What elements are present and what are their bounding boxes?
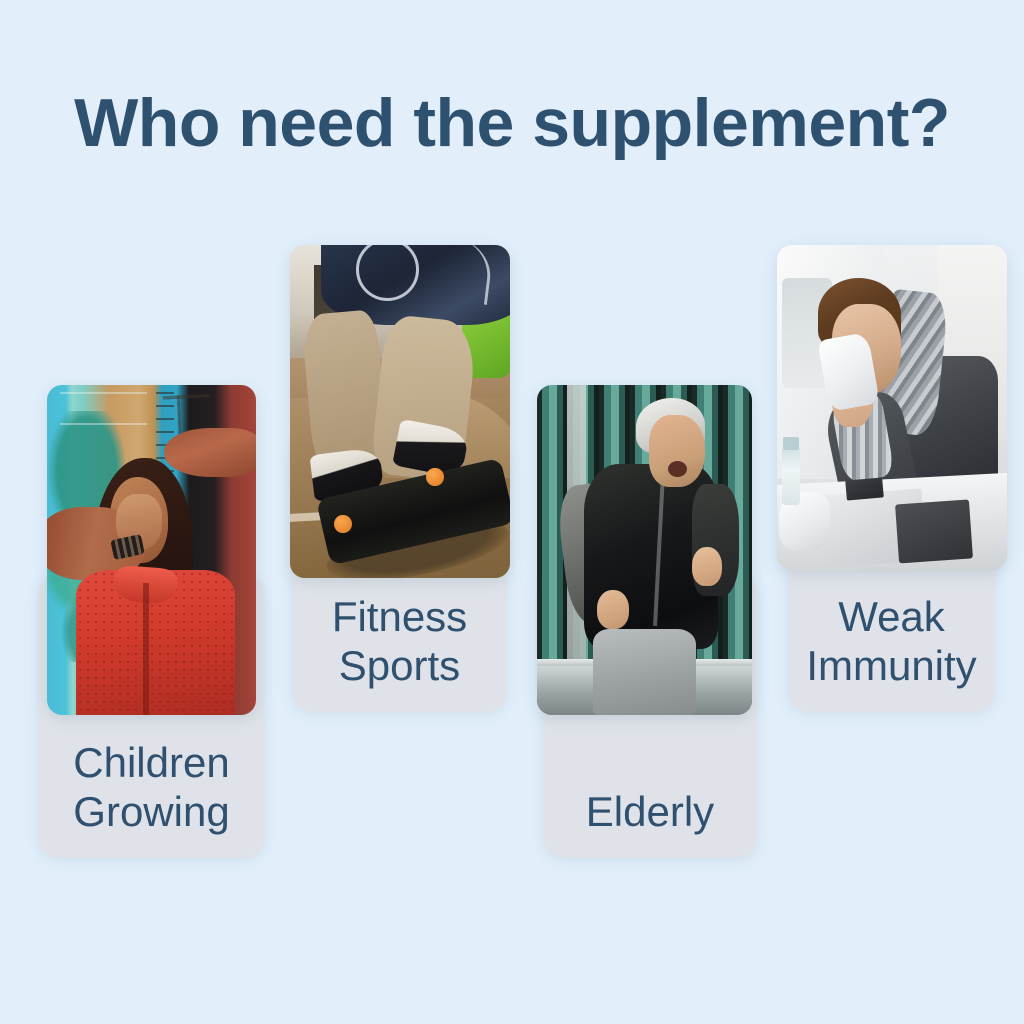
skateboard-wheel-rear xyxy=(334,515,352,533)
medicine-bottle-cap xyxy=(783,437,799,450)
laptop-screen xyxy=(895,499,972,562)
card-label-elderly: Elderly xyxy=(543,787,757,858)
shirt-button-placket xyxy=(143,583,149,715)
card-image-children xyxy=(47,385,256,715)
medicine-bottle xyxy=(782,447,800,506)
poster-root: Who need the supplement? Children Growin… xyxy=(0,0,1024,1024)
jogger-left-fist xyxy=(597,590,629,630)
card-label-fitness: Fitness Sports xyxy=(292,592,507,712)
card-label-immunity: Weak Immunity xyxy=(788,592,995,712)
card-image-elderly xyxy=(537,385,752,715)
card-image-fitness xyxy=(290,245,510,578)
adult-hand-measuring xyxy=(164,428,256,478)
page-title: Who need the supplement? xyxy=(0,88,1024,159)
jogger-right-fist xyxy=(692,547,722,587)
jogger-grey-pants xyxy=(593,629,696,715)
smartphone xyxy=(845,477,883,500)
card-label-children: Children Growing xyxy=(38,738,265,858)
card-image-immunity xyxy=(777,245,1007,570)
mural-lettering-top xyxy=(60,392,148,426)
